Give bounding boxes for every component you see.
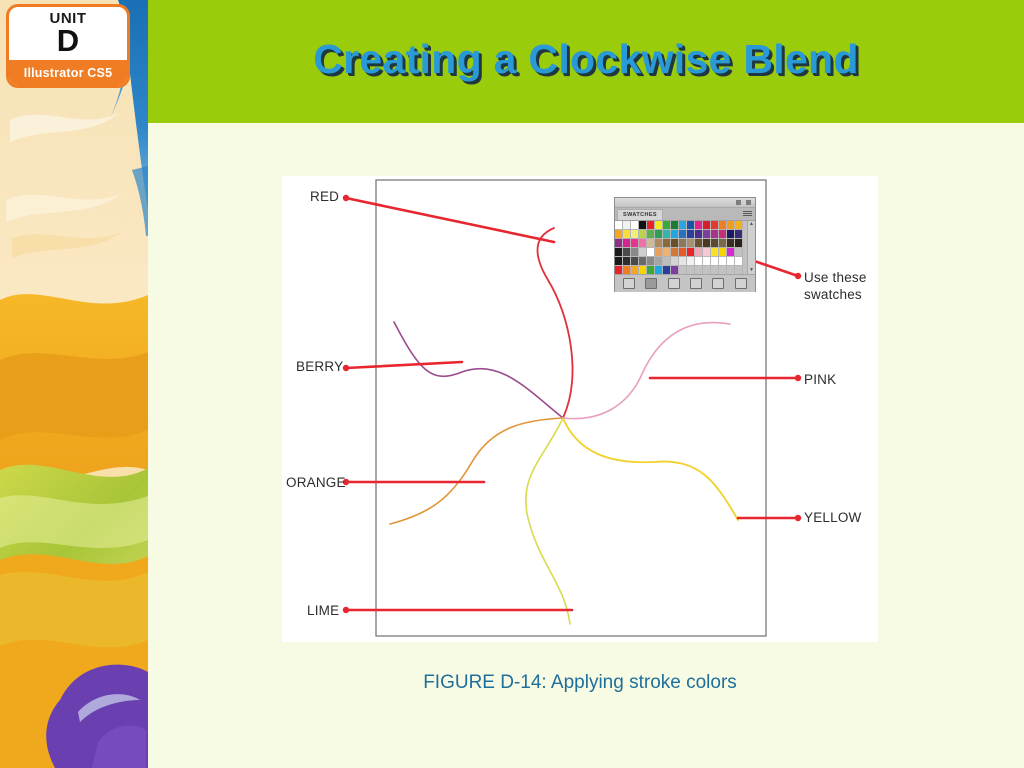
swatch-cell[interactable] [695,230,703,239]
swatch-cell[interactable] [727,266,735,274]
swatch-cell[interactable] [679,257,687,266]
swatch-cell[interactable] [703,239,711,248]
swatch-cell[interactable] [623,230,631,239]
unit-badge: UNIT D Illustrator CS5 [6,4,130,88]
swatch-cell[interactable] [615,239,623,248]
scroll-down-icon[interactable]: ▼ [748,267,755,274]
swatch-cell[interactable] [631,257,639,266]
decorative-paint-strip [0,0,148,768]
swatch-cell[interactable] [639,221,647,230]
swatch-cell[interactable] [711,257,719,266]
figure-panel: SWATCHES ▲ ▼ RED BERRY ORANGE LIME Use t… [282,176,878,642]
swatch-cell[interactable] [719,239,727,248]
swatch-cell[interactable] [615,248,623,257]
new-swatch-icon[interactable] [712,278,724,289]
swatch-cell[interactable] [631,221,639,230]
swatch-cell[interactable] [671,239,679,248]
swatch-cell[interactable] [623,221,631,230]
swatch-cell[interactable] [631,230,639,239]
swatch-grid-scrollbar[interactable]: ▲ ▼ [747,221,755,274]
panel-titlebar[interactable] [615,198,755,208]
swatch-cell[interactable] [719,257,727,266]
swatch-cell[interactable] [727,239,735,248]
label-red: RED [310,189,339,204]
swatch-cell[interactable] [679,266,687,274]
swatch-row [615,239,755,248]
panel-menu-icon[interactable] [743,211,752,217]
delete-swatch-icon[interactable] [735,278,747,289]
swatch-cell[interactable] [719,230,727,239]
figure-artwork [282,176,878,642]
swatch-cell[interactable] [615,266,623,274]
swatch-cell[interactable] [647,257,655,266]
swatch-cell[interactable] [711,248,719,257]
swatch-cell[interactable] [639,266,647,274]
swatch-cell[interactable] [695,239,703,248]
swatch-cell[interactable] [703,266,711,274]
panel-tab-row: SWATCHES [615,208,755,221]
swatch-cell[interactable] [671,266,679,274]
swatch-cell[interactable] [703,257,711,266]
panel-collapse-icon[interactable] [736,200,741,205]
swatch-cell[interactable] [727,257,735,266]
new-color-group-icon[interactable] [690,278,702,289]
swatch-cell[interactable] [647,230,655,239]
swatch-cell[interactable] [695,221,703,230]
swatch-cell[interactable] [639,230,647,239]
swatch-cell[interactable] [719,248,727,257]
swatch-cell[interactable] [687,266,695,274]
swatch-cell[interactable] [735,221,743,230]
swatch-cell[interactable] [631,248,639,257]
label-pink: PINK [804,372,836,387]
swatch-cell[interactable] [687,221,695,230]
swatch-cell[interactable] [647,239,655,248]
swatch-cell[interactable] [663,266,671,274]
swatch-cell[interactable] [695,248,703,257]
swatch-cell[interactable] [655,230,663,239]
swatch-cell[interactable] [711,230,719,239]
swatch-cell[interactable] [663,221,671,230]
swatch-cell[interactable] [655,221,663,230]
swatch-cell[interactable] [647,266,655,274]
label-berry: BERRY [296,359,343,374]
swatch-cell[interactable] [663,248,671,257]
swatch-cell[interactable] [615,221,623,230]
swatch-cell[interactable] [711,266,719,274]
swatch-cell[interactable] [671,221,679,230]
swatch-cell[interactable] [655,248,663,257]
swatch-cell[interactable] [631,239,639,248]
tab-swatches[interactable]: SWATCHES [617,209,663,220]
swatch-cell[interactable] [727,248,735,257]
swatch-cell[interactable] [623,248,631,257]
swatch-cell[interactable] [679,230,687,239]
swatch-cell[interactable] [639,248,647,257]
swatch-cell[interactable] [719,266,727,274]
swatch-cell[interactable] [735,248,743,257]
swatch-cell[interactable] [687,239,695,248]
swatch-cell[interactable] [703,221,711,230]
swatch-cell[interactable] [679,239,687,248]
swatch-cell[interactable] [727,230,735,239]
swatch-cell[interactable] [647,221,655,230]
swatch-grid[interactable]: ▲ ▼ [615,221,755,274]
swatch-libraries-menu-icon[interactable] [623,278,635,289]
swatch-cell[interactable] [679,221,687,230]
swatch-cell[interactable] [679,248,687,257]
label-yellow: YELLOW [804,510,861,525]
swatch-cell[interactable] [623,239,631,248]
swatch-cell[interactable] [735,266,743,274]
swatch-cell[interactable] [639,239,647,248]
label-use-these-swatches-line1: Use these [804,270,867,285]
swatch-cell[interactable] [695,257,703,266]
swatch-options-icon[interactable] [668,278,680,289]
swatch-cell[interactable] [647,248,655,257]
panel-close-icon[interactable] [746,200,751,205]
figure-caption: FIGURE D-14: Applying stroke colors [282,672,878,694]
swatch-panel-toolbar[interactable] [615,274,755,292]
unit-letter: D [9,26,127,56]
show-swatch-kinds-menu-icon[interactable] [645,278,657,289]
swatch-cell[interactable] [615,257,623,266]
swatch-cell[interactable] [663,230,671,239]
label-lime: LIME [307,603,339,618]
swatch-cell[interactable] [727,221,735,230]
header-band: Creating a Clockwise Blend [148,0,1024,123]
swatch-cell[interactable] [687,248,695,257]
swatch-cell[interactable] [639,257,647,266]
label-use-these-swatches-line2: swatches [804,287,862,302]
swatch-row [615,221,755,230]
swatch-cell[interactable] [655,239,663,248]
swatch-row [615,257,755,266]
swatch-cell[interactable] [623,266,631,274]
swatch-row [615,266,755,274]
swatch-cell[interactable] [615,230,623,239]
swatch-cell[interactable] [711,221,719,230]
swatch-cell[interactable] [719,221,727,230]
label-orange: ORANGE [286,475,346,490]
swatch-cell[interactable] [735,230,743,239]
page-title: Creating a Clockwise Blend [148,36,1024,83]
swatch-cell[interactable] [663,239,671,248]
swatch-cell[interactable] [671,230,679,239]
swatch-cell[interactable] [687,257,695,266]
swatch-cell[interactable] [671,257,679,266]
swatch-cell[interactable] [703,248,711,257]
swatch-row [615,248,755,257]
scroll-up-icon[interactable]: ▲ [748,221,755,228]
swatch-cell[interactable] [655,266,663,274]
swatch-cell[interactable] [687,230,695,239]
swatch-cell[interactable] [735,239,743,248]
unit-product-name: Illustrator CS5 [8,60,128,86]
swatch-cell[interactable] [623,257,631,266]
swatch-cell[interactable] [703,230,711,239]
swatch-row [615,230,755,239]
swatch-cell[interactable] [735,257,743,266]
swatch-cell[interactable] [631,266,639,274]
swatches-panel[interactable]: SWATCHES ▲ ▼ [614,197,756,292]
swatch-cell[interactable] [663,257,671,266]
swatch-cell[interactable] [655,257,663,266]
swatch-cell[interactable] [695,266,703,274]
swatch-cell[interactable] [711,239,719,248]
swatch-cell[interactable] [671,248,679,257]
